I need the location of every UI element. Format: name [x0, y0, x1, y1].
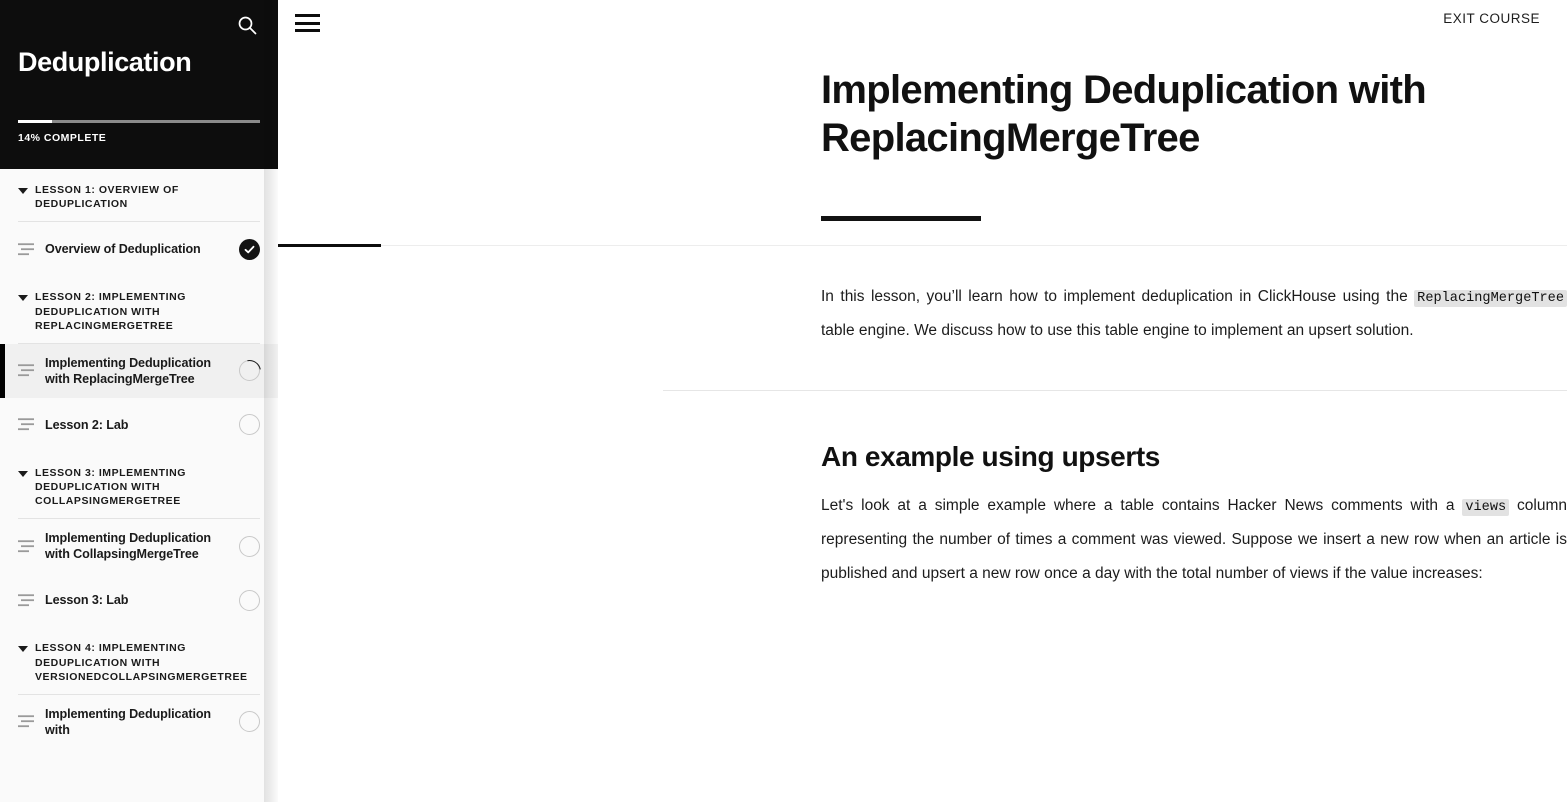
- hamburger-menu-icon[interactable]: [295, 12, 325, 34]
- intro-text-part1: In this lesson, you’ll learn how to impl…: [821, 288, 1414, 305]
- lesson-item-label: Implementing Deduplication with: [45, 706, 239, 739]
- page-title: Implementing Deduplication with Replacin…: [821, 66, 1521, 162]
- document-header: Implementing Deduplication with Replacin…: [278, 46, 1567, 221]
- course-progress: 14% COMPLETE: [18, 120, 260, 144]
- lesson-item-status: [239, 711, 260, 732]
- chevron-down-icon[interactable]: [18, 295, 28, 301]
- course-sidebar: Deduplication 14% COMPLETE LESSON 1: OVE…: [0, 0, 278, 802]
- intro-text-part2: table engine. We discuss how to use this…: [821, 322, 1414, 339]
- course-title: Deduplication: [18, 48, 191, 78]
- lines-icon: [18, 243, 36, 256]
- lesson-item-label: Implementing Deduplication with Collapsi…: [45, 530, 239, 563]
- lesson-item[interactable]: Implementing Deduplication with Replacin…: [0, 344, 278, 398]
- lesson-item-status: [239, 414, 260, 435]
- section-divider: [663, 390, 1567, 391]
- lesson-group-title: LESSON 2: IMPLEMENTING DEDUPLICATION WIT…: [35, 290, 260, 333]
- main-content: EXIT COURSE Implementing Deduplication w…: [278, 0, 1567, 802]
- lesson-item[interactable]: Implementing Deduplication with Collapsi…: [0, 519, 278, 573]
- lines-icon: [18, 364, 36, 377]
- intro-paragraph: In this lesson, you’ll learn how to impl…: [821, 280, 1567, 348]
- lesson-item[interactable]: Lesson 2: Lab: [0, 398, 278, 452]
- inline-code-replacingmergetree: ReplacingMergeTree: [1414, 290, 1567, 307]
- status-incomplete-icon: [239, 711, 260, 732]
- page-progress-fill: [278, 244, 381, 247]
- top-bar: EXIT COURSE: [278, 0, 1567, 46]
- lesson-item-status: [239, 239, 260, 260]
- lesson-item-label: Overview of Deduplication: [45, 241, 239, 257]
- lesson-item[interactable]: Overview of Deduplication: [0, 222, 278, 276]
- chevron-down-icon[interactable]: [18, 471, 28, 477]
- document-body: In this lesson, you’ll learn how to impl…: [278, 280, 1567, 591]
- exit-course-button[interactable]: EXIT COURSE: [1443, 11, 1540, 26]
- sidebar-header: Deduplication 14% COMPLETE: [0, 0, 278, 169]
- lesson-item[interactable]: Lesson 3: Lab: [0, 573, 278, 627]
- lines-icon: [18, 715, 36, 728]
- lesson-group-header[interactable]: LESSON 4: IMPLEMENTING DEDUPLICATION WIT…: [0, 627, 278, 684]
- lesson-item-status: [239, 590, 260, 611]
- inline-code-views: views: [1462, 499, 1509, 516]
- chevron-down-icon[interactable]: [18, 646, 28, 652]
- lesson-group-title: LESSON 4: IMPLEMENTING DEDUPLICATION WIT…: [35, 641, 260, 684]
- lesson-list[interactable]: LESSON 1: OVERVIEW OF DEDUPLICATIONOverv…: [0, 169, 278, 802]
- title-underline-rule: [821, 216, 981, 221]
- section-heading-upserts: An example using upserts: [821, 441, 1567, 473]
- status-incomplete-icon: [239, 590, 260, 611]
- status-complete-icon: [239, 239, 260, 260]
- lines-icon: [18, 594, 36, 607]
- lesson-group-header[interactable]: LESSON 2: IMPLEMENTING DEDUPLICATION WIT…: [0, 276, 278, 333]
- lesson-item-label: Lesson 2: Lab: [45, 417, 239, 433]
- lesson-group-header[interactable]: LESSON 1: OVERVIEW OF DEDUPLICATION: [0, 169, 278, 211]
- search-icon[interactable]: [234, 12, 260, 38]
- section-paragraph: Let's look at a simple example where a t…: [821, 489, 1567, 591]
- lesson-item-label: Implementing Deduplication with Replacin…: [45, 355, 239, 388]
- course-player: Deduplication 14% COMPLETE LESSON 1: OVE…: [0, 0, 1567, 802]
- progress-track: [18, 120, 260, 123]
- page-progress-bar: [278, 245, 1567, 246]
- lines-icon: [18, 418, 36, 431]
- lesson-group-title: LESSON 1: OVERVIEW OF DEDUPLICATION: [35, 183, 260, 211]
- lesson-group-header[interactable]: LESSON 3: IMPLEMENTING DEDUPLICATION WIT…: [0, 452, 278, 509]
- status-incomplete-icon: [239, 536, 260, 557]
- chevron-down-icon[interactable]: [18, 188, 28, 194]
- lesson-item[interactable]: Implementing Deduplication with: [0, 695, 278, 749]
- progress-label: 14% COMPLETE: [18, 132, 260, 144]
- lesson-item-status: [239, 536, 260, 557]
- lines-icon: [18, 540, 36, 553]
- lesson-item-label: Lesson 3: Lab: [45, 592, 239, 608]
- section-text-part1: Let's look at a simple example where a t…: [821, 497, 1462, 514]
- status-in-progress-icon: [239, 360, 260, 381]
- lesson-item-status: [239, 360, 260, 381]
- status-incomplete-icon: [239, 414, 260, 435]
- lesson-group-title: LESSON 3: IMPLEMENTING DEDUPLICATION WIT…: [35, 466, 260, 509]
- progress-fill: [18, 120, 52, 123]
